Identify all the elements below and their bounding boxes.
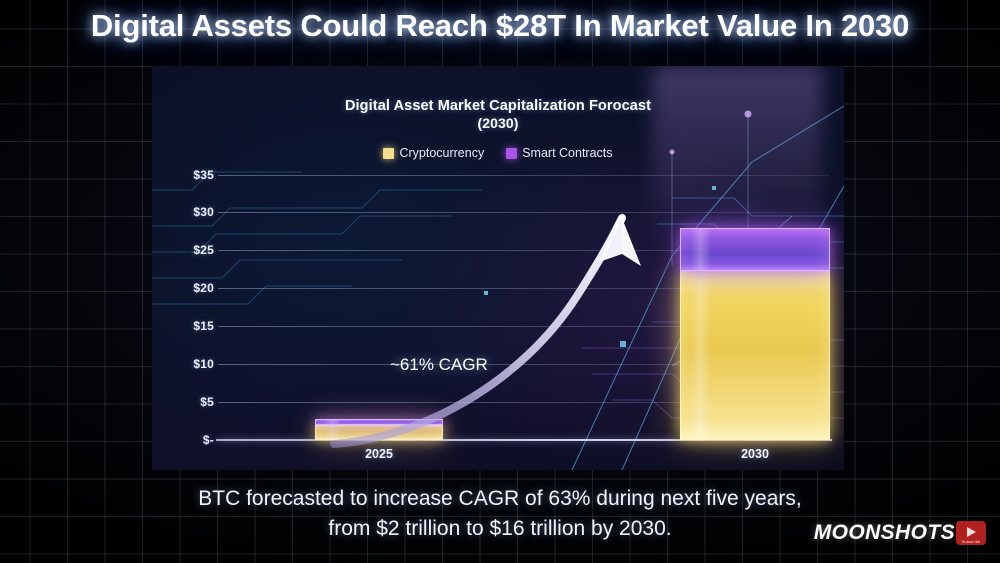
play-triangle-icon — [967, 527, 976, 537]
x-axis-tick-2030: 2030 — [741, 447, 769, 461]
bar-2030[interactable] — [680, 175, 830, 440]
y-axis-tick: $10 — [158, 357, 214, 371]
bar-sheen — [690, 229, 711, 270]
y-axis-tick: $25 — [158, 243, 214, 257]
y-axis-tick: $- — [158, 433, 214, 447]
bar-segment-smart-contracts — [315, 419, 443, 425]
legend-item-cryptocurrency[interactable]: Cryptocurrency — [383, 146, 484, 160]
video-stage: Digital Assets Could Reach $28T In Marke… — [0, 0, 1000, 563]
y-axis-tick: $5 — [158, 395, 214, 409]
legend-swatch-icon — [383, 148, 394, 159]
cagr-annotation: ~61% CAGR — [390, 355, 488, 375]
y-axis-tick: $15 — [158, 319, 214, 333]
youtube-subscribe-icon[interactable]: Subscribe — [956, 521, 986, 545]
y-axis-tick: $20 — [158, 281, 214, 295]
bar-sheen — [324, 426, 342, 439]
y-axis-tick: $30 — [158, 205, 214, 219]
bar-sheen — [690, 272, 711, 439]
chart-subtitle: (2030) — [152, 115, 844, 131]
chart-panel: Digital Asset Market Capitalization Foro… — [152, 66, 844, 470]
y-axis-tick: $35 — [158, 168, 214, 182]
caption-line-1: BTC forecasted to increase CAGR of 63% d… — [198, 487, 801, 510]
legend-label: Smart Contracts — [522, 146, 612, 160]
legend-swatch-icon — [506, 148, 517, 159]
page-title: Digital Assets Could Reach $28T In Marke… — [0, 8, 1000, 44]
chart-title: Digital Asset Market Capitalization Foro… — [152, 98, 844, 114]
plot-area: Trillions $35 $30 $25 $20 $15 $10 $5 $- — [218, 175, 830, 440]
bar-segment-smart-contracts — [680, 228, 830, 271]
bar-2025[interactable] — [315, 175, 443, 440]
x-axis-tick-2025: 2025 — [365, 447, 393, 461]
bar-segment-cryptocurrency — [315, 425, 443, 440]
legend-label: Cryptocurrency — [399, 146, 484, 160]
legend-item-smart-contracts[interactable]: Smart Contracts — [506, 146, 612, 160]
bar-sheen — [324, 420, 342, 424]
brand-name: MOONSHOTS — [814, 521, 955, 545]
watermark: MOONSHOTS Subscribe — [814, 521, 986, 545]
subscribe-label: Subscribe — [956, 539, 986, 544]
bar-segment-cryptocurrency — [680, 271, 830, 440]
chart-legend: Cryptocurrency Smart Contracts — [152, 146, 844, 160]
